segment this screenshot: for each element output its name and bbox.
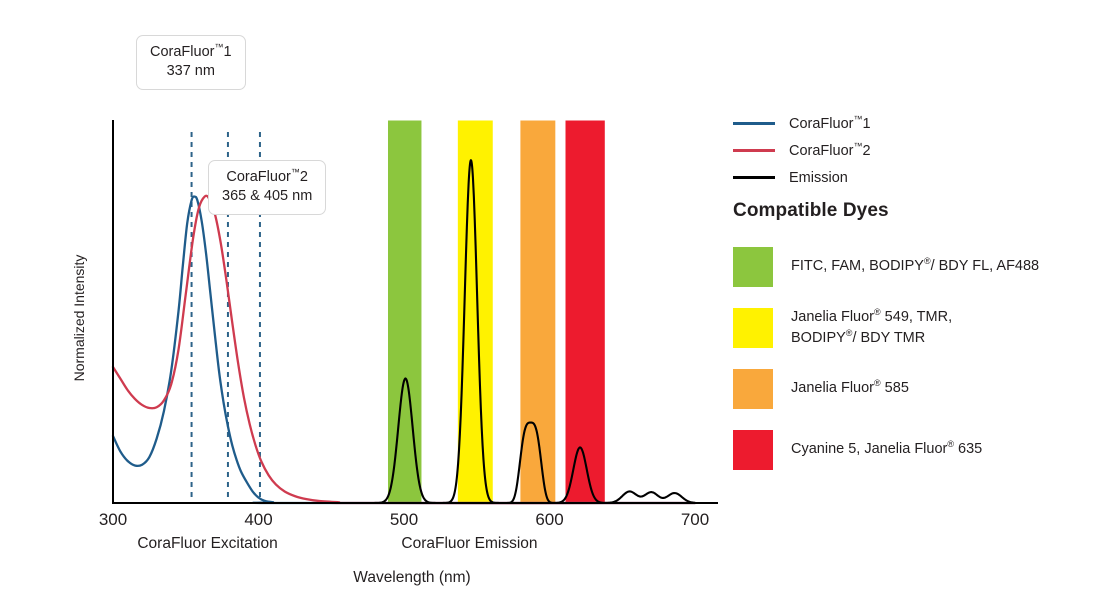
legend-row-0: CoraFluor™1 bbox=[733, 110, 1103, 137]
region-label-1: CoraFluor Emission bbox=[401, 535, 537, 552]
wavelength-bands bbox=[388, 121, 605, 504]
callout-corafluor2: CoraFluor™2 365 & 405 nm bbox=[208, 160, 326, 215]
dye-row-1: Janelia Fluor® 549, TMR,BODIPY®/ BDY TMR bbox=[733, 297, 1108, 358]
region-label-0: CoraFluor Excitation bbox=[137, 535, 277, 552]
xtick-label-700: 700 bbox=[681, 510, 709, 529]
dye-label-line1: Cyanine 5, Janelia Fluor® 635 bbox=[791, 439, 982, 459]
dye-label-line1: Janelia Fluor® 549, TMR, bbox=[791, 307, 952, 327]
dye-row-3: Cyanine 5, Janelia Fluor® 635 bbox=[733, 419, 1108, 480]
legend-label: Emission bbox=[789, 170, 848, 186]
xtick-label-300: 300 bbox=[99, 510, 127, 529]
dye-row-2: Janelia Fluor® 585 bbox=[733, 358, 1108, 419]
dye-color-swatch bbox=[733, 247, 773, 287]
dye-color-swatch bbox=[733, 369, 773, 409]
dye-row-0: FITC, FAM, BODIPY®/ BDY FL, AF488 bbox=[733, 236, 1108, 297]
series-legend: CoraFluor™1CoraFluor™2Emission bbox=[733, 110, 1103, 191]
dye-label-line2: BODIPY®/ BDY TMR bbox=[791, 328, 952, 348]
dye-label-line1: FITC, FAM, BODIPY®/ BDY FL, AF488 bbox=[791, 256, 1039, 276]
callout-1-line2: 337 nm bbox=[150, 62, 232, 81]
legend-line-swatch bbox=[733, 122, 775, 125]
xtick-label-500: 500 bbox=[390, 510, 418, 529]
dye-label: Cyanine 5, Janelia Fluor® 635 bbox=[791, 439, 982, 459]
dye-color-swatch bbox=[733, 430, 773, 470]
callout-2-line1: CoraFluor™2 bbox=[222, 168, 312, 187]
compatible-dyes-heading: Compatible Dyes bbox=[733, 200, 889, 222]
callout-1-line1: CoraFluor™1 bbox=[150, 43, 232, 62]
xtick-label-400: 400 bbox=[244, 510, 272, 529]
legend-line-swatch bbox=[733, 149, 775, 152]
dye-label: FITC, FAM, BODIPY®/ BDY FL, AF488 bbox=[791, 256, 1039, 276]
dye-label-line1: Janelia Fluor® 585 bbox=[791, 378, 909, 398]
x-axis-title: Wavelength (nm) bbox=[353, 569, 470, 586]
red-band bbox=[566, 121, 605, 504]
legend-row-2: Emission bbox=[733, 164, 1103, 191]
callout-corafluor1: CoraFluor™1 337 nm bbox=[136, 35, 246, 90]
orange-band bbox=[520, 121, 555, 504]
callout-2-line2: 365 & 405 nm bbox=[222, 187, 312, 206]
legend-row-1: CoraFluor™2 bbox=[733, 137, 1103, 164]
legend-label: CoraFluor™1 bbox=[789, 116, 871, 132]
spectra-figure: 300400500600700CoraFluor ExcitationCoraF… bbox=[0, 0, 1110, 612]
yellow-band bbox=[458, 121, 493, 504]
dye-color-swatch bbox=[733, 308, 773, 348]
legend-line-swatch bbox=[733, 176, 775, 179]
y-axis-title: Normalized Intensity bbox=[71, 255, 87, 382]
compatible-dyes-list: FITC, FAM, BODIPY®/ BDY FL, AF488Janelia… bbox=[733, 236, 1108, 480]
green-band bbox=[388, 121, 421, 504]
dye-label: Janelia Fluor® 549, TMR,BODIPY®/ BDY TMR bbox=[791, 307, 952, 348]
xtick-label-600: 600 bbox=[535, 510, 563, 529]
legend-label: CoraFluor™2 bbox=[789, 143, 871, 159]
dye-label: Janelia Fluor® 585 bbox=[791, 378, 909, 398]
